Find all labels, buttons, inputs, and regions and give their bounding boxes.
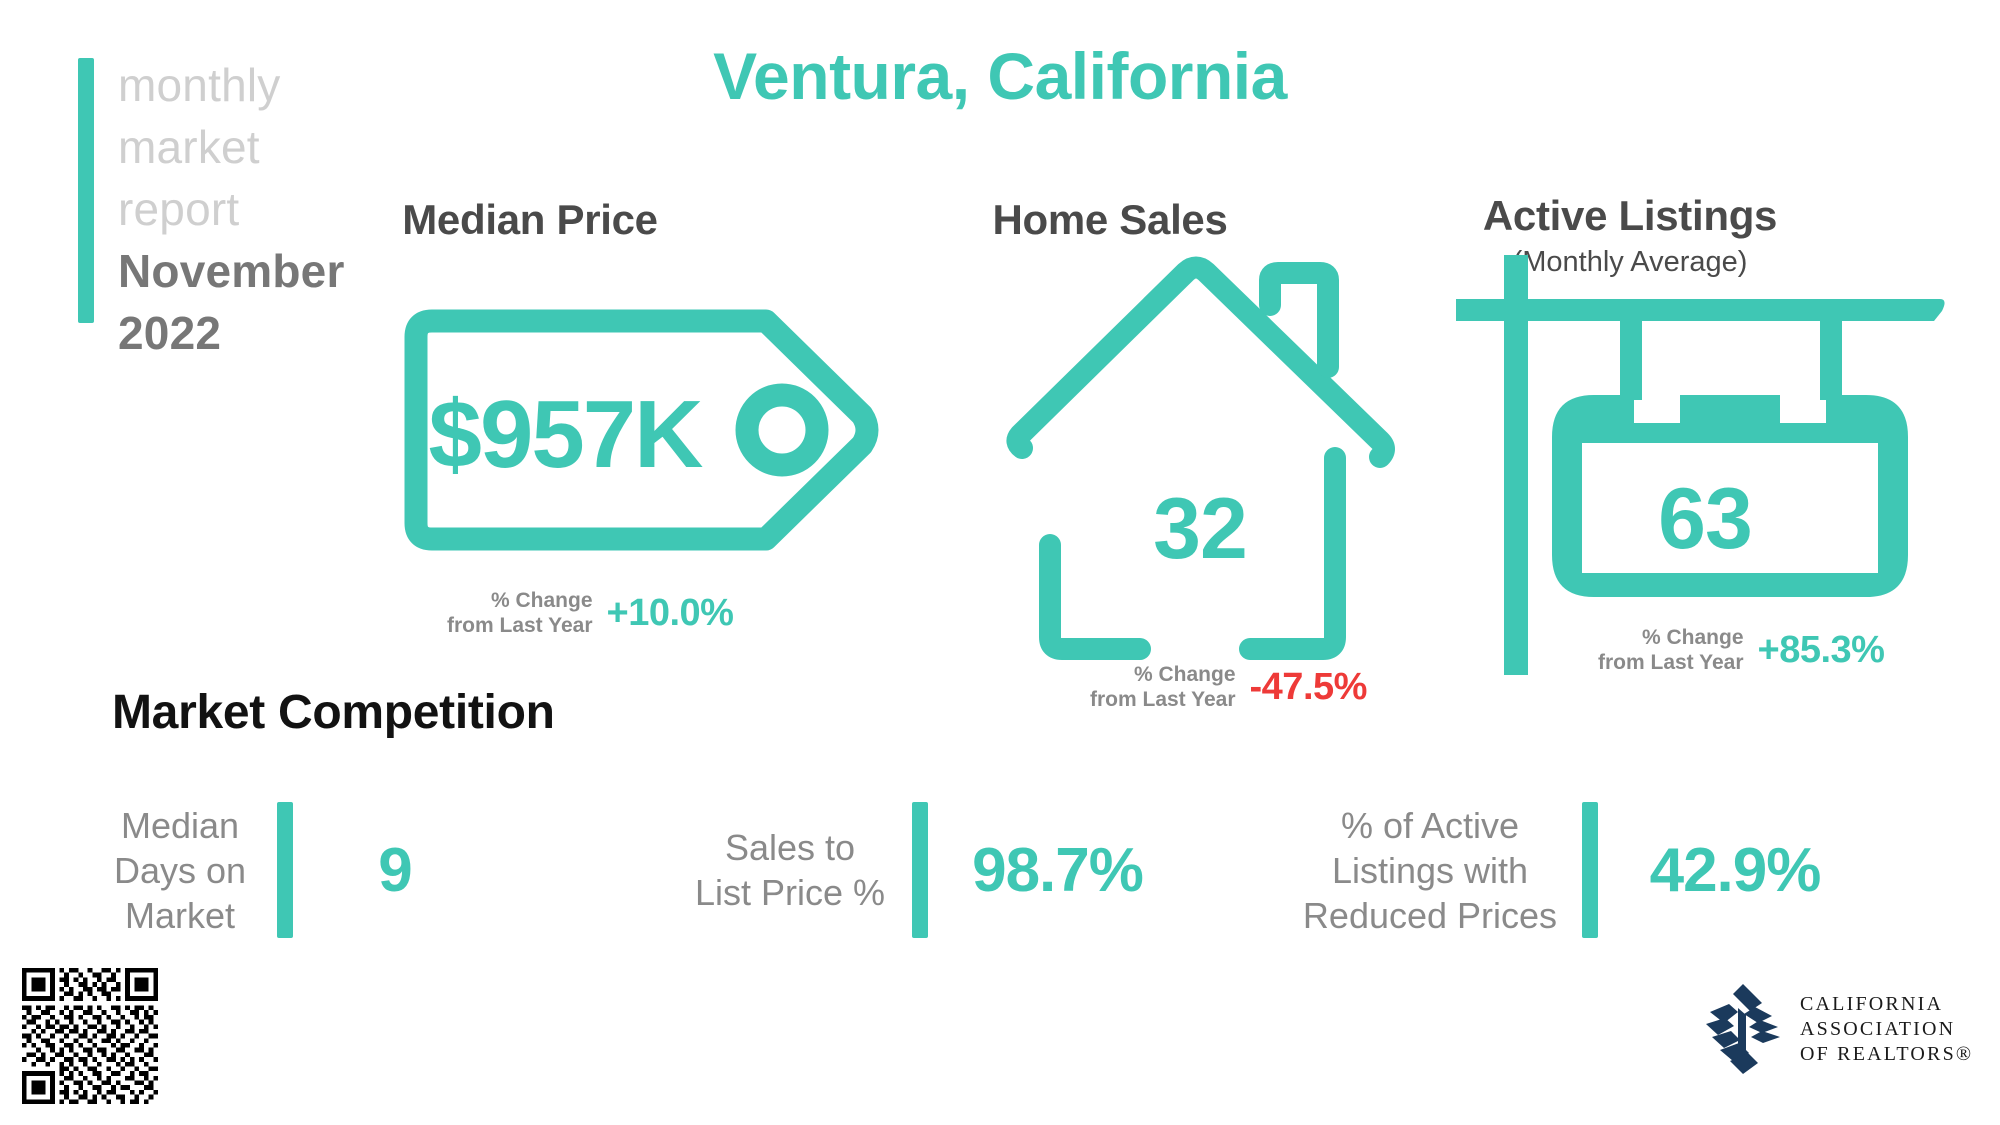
car-logo-text: CALIFORNIA ASSOCIATION OF REALTORS® (1800, 992, 1973, 1067)
change-label-home-sales: % Change from Last Year (1090, 662, 1236, 712)
competition-label-sales-to-list: Sales to List Price % (690, 825, 890, 915)
change-value-median-price: +10.0% (607, 592, 734, 635)
competition-item-median-days: Median Days on Market 9 (105, 795, 475, 945)
car-logo-mark (1700, 982, 1786, 1076)
header-line-report: report (118, 178, 345, 240)
value-home-sales: 32 (1035, 480, 1365, 579)
value-median-price: $957K (410, 380, 720, 490)
page-title: Ventura, California (0, 38, 2000, 114)
car-logo: CALIFORNIA ASSOCIATION OF REALTORS® (1700, 982, 1973, 1076)
panel-heading-home-sales: Home Sales (900, 196, 1320, 244)
change-block-active-listings: % Change from Last Year +85.3% (1598, 625, 1884, 675)
header-year: 2022 (118, 302, 345, 364)
panel-heading-median-price: Median Price (320, 196, 740, 244)
competition-label-reduced-prices: % of Active Listings with Reduced Prices (1300, 803, 1560, 938)
change-label-active-listings: % Change from Last Year (1598, 625, 1744, 675)
header-month: November (118, 240, 345, 302)
competition-value-sales-to-list: 98.7% (950, 835, 1165, 906)
car-logo-line-1: CALIFORNIA (1800, 992, 1973, 1017)
change-block-median-price: % Change from Last Year +10.0% (447, 588, 733, 638)
change-label-median-price: % Change from Last Year (447, 588, 593, 638)
competition-item-reduced-prices: % of Active Listings with Reduced Prices… (1300, 795, 1850, 945)
competition-value-reduced-prices: 42.9% (1620, 835, 1850, 906)
competition-value-median-days: 9 (315, 835, 475, 906)
change-block-home-sales: % Change from Last Year -47.5% (1090, 662, 1367, 712)
panel-heading-active-listings: Active Listings (1380, 192, 1880, 240)
infographic-canvas: monthly market report November 2022 Vent… (0, 0, 2000, 1125)
car-logo-line-3: OF REALTORS® (1800, 1042, 1973, 1067)
competition-divider (1582, 802, 1598, 938)
header-line-market: market (118, 116, 345, 178)
competition-heading: Market Competition (112, 685, 555, 740)
competition-divider (277, 802, 293, 938)
yard-sign-icon (1448, 255, 1958, 675)
value-active-listings: 63 (1455, 470, 1955, 569)
change-value-active-listings: +85.3% (1758, 629, 1885, 672)
competition-label-median-days: Median Days on Market (105, 803, 255, 938)
qr-code[interactable] (22, 968, 158, 1104)
competition-divider (912, 802, 928, 938)
competition-item-sales-to-list: Sales to List Price % 98.7% (690, 795, 1165, 945)
car-logo-line-2: ASSOCIATION (1800, 1017, 1973, 1042)
change-value-home-sales: -47.5% (1250, 666, 1367, 709)
house-icon (1000, 245, 1400, 675)
